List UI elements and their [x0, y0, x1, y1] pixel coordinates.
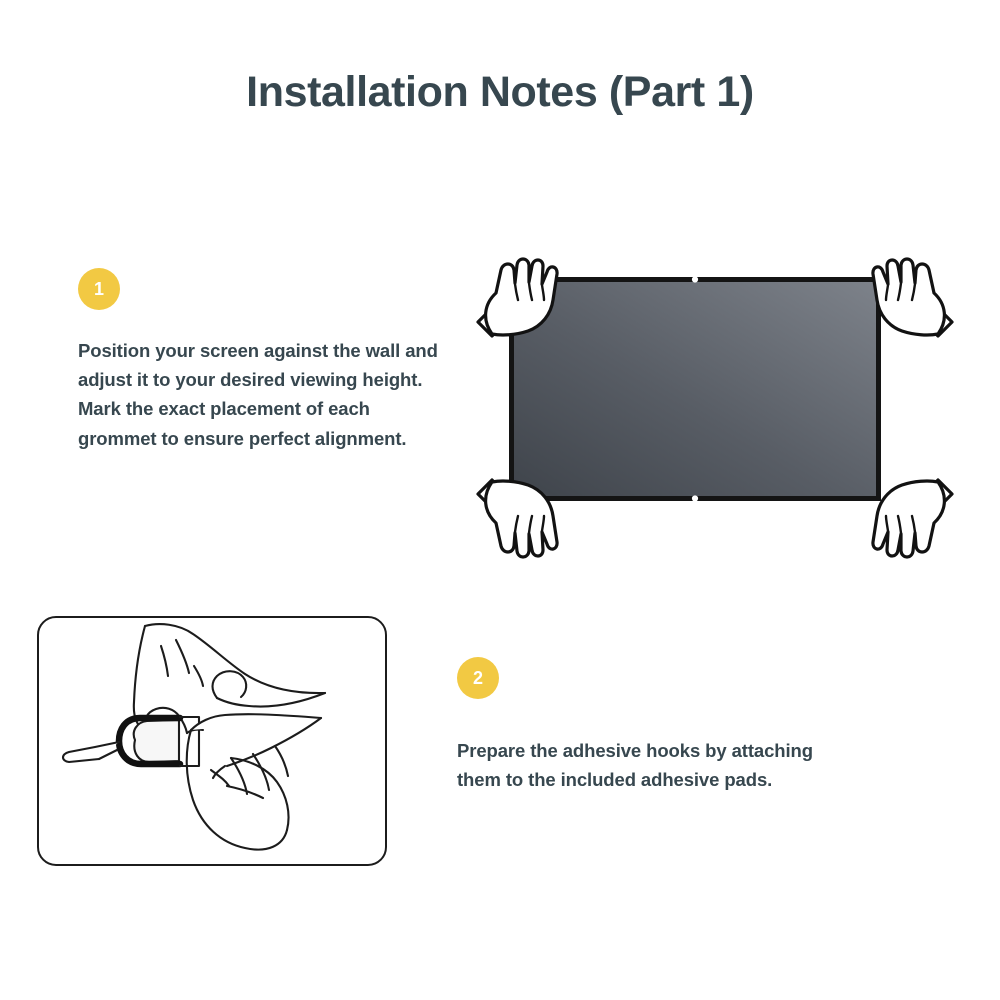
step-badge-1-label: 1 — [94, 279, 104, 300]
projector-screen-illustration — [470, 248, 960, 568]
step-1-text: Position your screen against the wall an… — [78, 336, 450, 453]
lower-hand — [187, 714, 321, 849]
grommet-bottom-center — [692, 495, 698, 501]
step-2-text: Prepare the adhesive hooks by attaching … — [457, 736, 829, 794]
glove-hand-top-right — [873, 259, 952, 336]
adhesive-hook-illustration — [37, 616, 387, 866]
step-badge-2: 2 — [457, 657, 499, 699]
step-badge-1: 1 — [78, 268, 120, 310]
glove-hand-bottom-right — [873, 480, 952, 557]
screen-panel — [509, 277, 881, 501]
grommet-top-center — [692, 276, 698, 282]
adhesive-hook — [63, 717, 199, 766]
step-badge-2-label: 2 — [473, 668, 483, 689]
page-title: Installation Notes (Part 1) — [0, 68, 1000, 117]
